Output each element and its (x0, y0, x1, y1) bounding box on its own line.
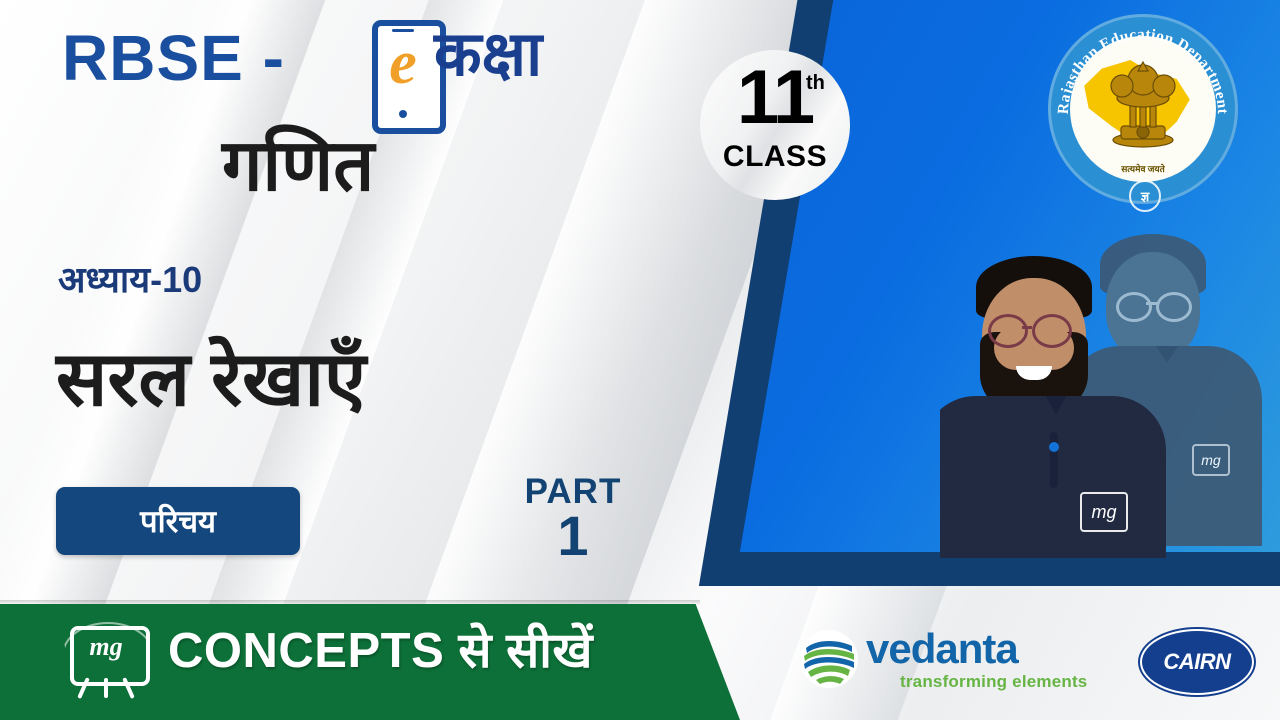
board-name-text: RBSE (62, 22, 244, 94)
shirt-button (1049, 442, 1059, 452)
svg-text:Rajasthan Education Department: Rajasthan Education Department (1055, 26, 1231, 115)
separator-dash: - (263, 22, 285, 94)
cairn-name: CAIRN (1163, 649, 1230, 675)
placket (1050, 432, 1058, 488)
logo-leg (104, 678, 108, 698)
vedanta-tagline: transforming elements (900, 672, 1087, 692)
mg-easel-logo: mg (60, 622, 152, 700)
platform-word: कक्षा (434, 24, 542, 86)
emblem-curved-text: Rajasthan Education Department (1048, 14, 1238, 204)
thumbnail-canvas: mg mg 11 th CLASS (0, 0, 1280, 720)
vedanta-globe-icon (800, 630, 858, 688)
class-number: 11 (700, 60, 850, 136)
shirt-mg-logo: mg (1080, 492, 1128, 532)
logo-text: mg (70, 634, 142, 660)
chapter-label: अध्याय-10 (58, 262, 202, 298)
presenters-photo: mg mg (940, 228, 1270, 558)
topic-title: सरल रेखाएँ (56, 336, 366, 423)
rajasthan-education-department-emblem: Rajasthan Education Department सत्यमेव ज… (1048, 14, 1238, 204)
class-word: CLASS (700, 140, 850, 174)
emblem-motto: सत्यमेव जयते (1048, 162, 1238, 175)
class-ordinal: th (806, 72, 825, 95)
vedanta-name: vedanta (866, 628, 1018, 670)
section-badge: परिचय (56, 487, 300, 555)
emblem-title-text: Rajasthan Education Department (1055, 26, 1231, 115)
shirt-mg-logo: mg (1192, 444, 1230, 476)
cairn-logo: CAIRN (1140, 629, 1254, 695)
vedanta-logo: vedanta transforming elements (800, 624, 1130, 696)
emblem-bottom-mark: ज्ञ (1129, 180, 1161, 212)
e-letter: e (378, 32, 428, 94)
part-number: 1 (498, 508, 648, 564)
presenter-front: mg (940, 256, 1160, 556)
phone-home-button (399, 110, 407, 118)
board-name: RBSE - (62, 26, 285, 90)
subject-title: गणित (222, 130, 374, 202)
footer-tagline: CONCEPTS से सीखें (168, 627, 593, 676)
